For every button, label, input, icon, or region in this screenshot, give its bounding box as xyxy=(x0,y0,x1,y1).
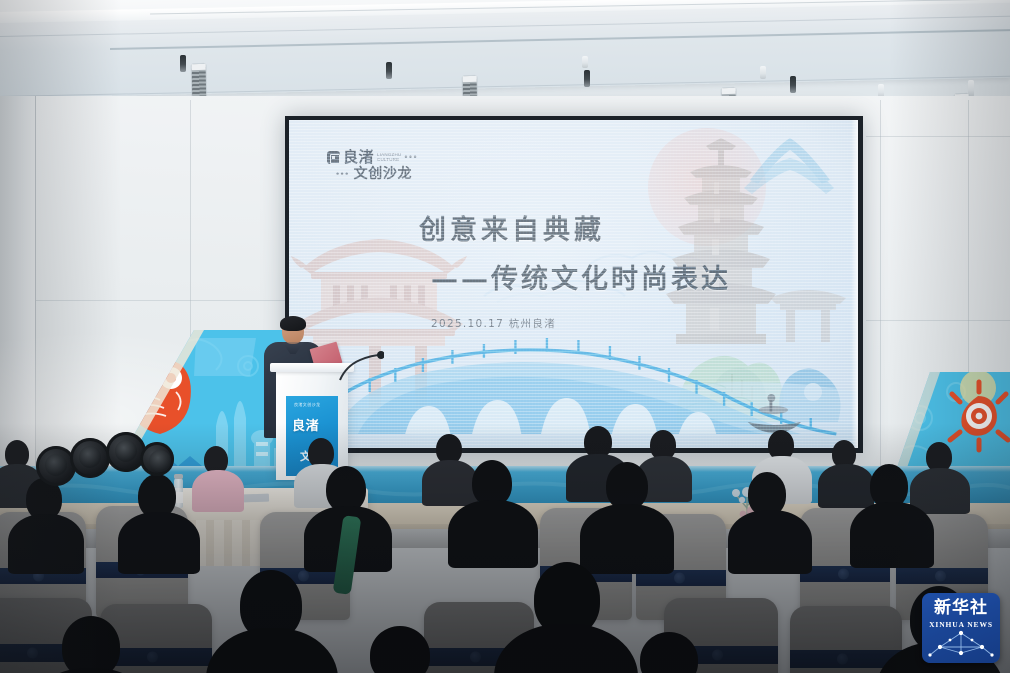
wall-seam xyxy=(866,136,1010,137)
stage-lamp xyxy=(70,438,110,478)
watermark-chinese-text: 新华社 xyxy=(922,600,1000,617)
liangzhu-seal-icon xyxy=(327,151,340,164)
slide-logo: 良渚 LIANGZHU CULTURE ••• ••• 文创沙龙 xyxy=(327,150,451,181)
logo-latin: LIANGZHU CULTURE xyxy=(377,152,401,163)
track-spotlight xyxy=(386,62,392,79)
audience-head xyxy=(370,626,430,673)
audience-shoulders xyxy=(192,470,244,512)
audience-head xyxy=(62,616,120,673)
logo-latin-bottom: CULTURE xyxy=(377,157,401,162)
stage-lamp xyxy=(140,442,174,476)
slide-title-line2: ——传统文化时尚表达 xyxy=(431,257,839,296)
audience-shoulders xyxy=(580,504,674,574)
audience-shoulders xyxy=(118,512,200,574)
xinhua-news-watermark: 新华社 XINHUA NEWS xyxy=(922,593,1000,663)
track-spotlight xyxy=(968,80,974,97)
audience-shoulders xyxy=(206,628,338,673)
slide-title-block: 创意来自典藏 ——传统文化时尚表达 xyxy=(419,208,839,296)
audience-shoulders xyxy=(818,464,874,508)
stage-light-rig xyxy=(36,432,174,498)
gooseneck-microphone xyxy=(338,348,384,382)
network-nodes-icon xyxy=(928,629,994,659)
wall-seam xyxy=(866,320,1010,321)
led-screen: 良渚 LIANGZHU CULTURE ••• ••• 文创沙龙 创意来自典藏 … xyxy=(289,120,858,448)
photo-scene: 良渚 LIANGZHU CULTURE ••• ••• 文创沙龙 创意来自典藏 … xyxy=(0,0,1010,673)
track-spotlight xyxy=(760,66,766,79)
audience-shoulders xyxy=(8,514,84,574)
wall-seam xyxy=(36,300,286,301)
audience-shoulders xyxy=(728,510,812,574)
speaker-hair xyxy=(280,316,306,331)
track-spotlight xyxy=(180,55,186,72)
stage-lamp xyxy=(106,432,146,472)
slide-date-location: 2025.10.17 杭州良渚 xyxy=(431,316,556,331)
audience-shoulders xyxy=(910,468,970,514)
logo-dots-right: ••• xyxy=(404,153,418,162)
slide-title-line1: 创意来自典藏 xyxy=(419,208,839,247)
track-spotlight xyxy=(584,70,590,87)
logo-brand: 良渚 xyxy=(343,150,374,165)
podium-small-label: 良渚文创沙龙 xyxy=(294,402,320,408)
audience-shoulders xyxy=(850,502,934,568)
led-screen-frame: 良渚 LIANGZHU CULTURE ••• ••• 文创沙龙 创意来自典藏 … xyxy=(285,116,863,453)
track-spotlight xyxy=(790,76,796,93)
logo-dots-left: ••• xyxy=(336,170,350,179)
audience-shoulders xyxy=(448,500,538,568)
track-spotlight xyxy=(582,56,588,68)
audience-head xyxy=(606,462,648,510)
logo-subtitle: 文创沙龙 xyxy=(354,167,412,181)
audience-shoulders xyxy=(422,460,478,506)
watermark-english-text: XINHUA NEWS xyxy=(922,620,1000,629)
